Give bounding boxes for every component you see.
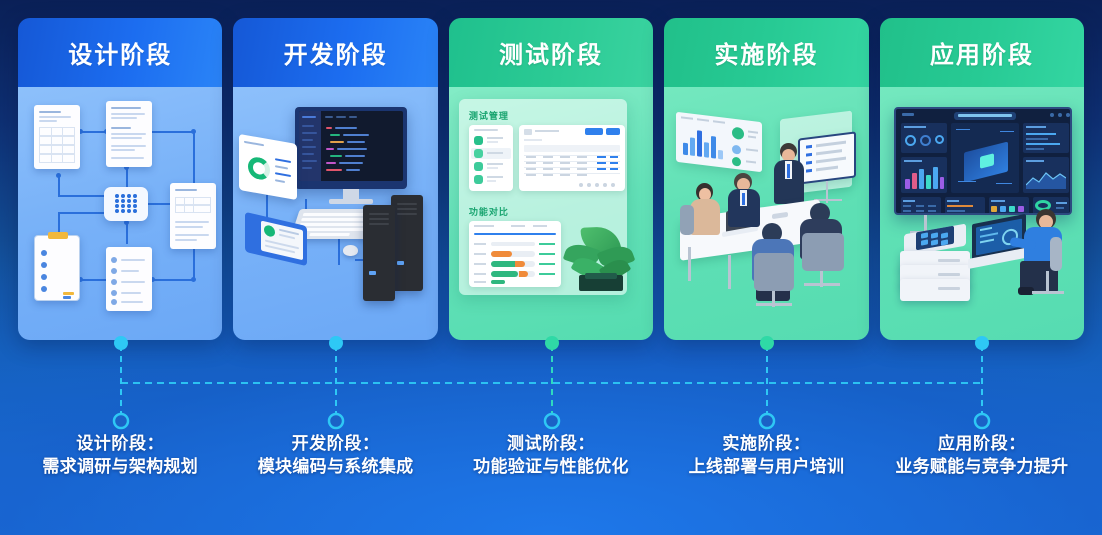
- stage-title-design: 设计阶段: [68, 35, 172, 70]
- stage-card-apply[interactable]: 应用阶段: [880, 18, 1084, 340]
- stage-card-header-test: 测试阶段: [449, 18, 653, 87]
- caption-design-desc: 需求调研与架构规划: [18, 455, 222, 478]
- caption-test-desc: 功能验证与性能优化: [449, 455, 653, 478]
- server-tower-back: [391, 195, 423, 291]
- server-tower-front: [363, 205, 395, 301]
- panel-heading-test-mgmt: 测试管理: [469, 109, 509, 122]
- illustration-developer-workstation: [233, 87, 437, 340]
- stage-captions-row: 设计阶段： 需求调研与架构规划 开发阶段： 模块编码与系统集成 测试阶段： 功能…: [18, 432, 1084, 479]
- stage-card-body-apply: [880, 87, 1084, 340]
- caption-design-title: 设计阶段：: [18, 432, 222, 455]
- monitor: [295, 107, 407, 189]
- stage-card-header-design: 设计阶段: [18, 18, 222, 87]
- stage-card-develop[interactable]: 开发阶段: [233, 18, 437, 340]
- stage-card-header-implement: 实施阶段: [664, 18, 868, 87]
- test-table-card: [519, 125, 625, 191]
- caption-test-title: 测试阶段：: [449, 432, 653, 455]
- wall-chart-board: [676, 112, 762, 173]
- stage-card-design[interactable]: 设计阶段: [18, 18, 222, 340]
- illustration-control-room-dashboard: [880, 87, 1084, 340]
- caption-apply-desc: 业务赋能与竞争力提升: [880, 455, 1084, 478]
- caption-implement-desc: 上线部署与用户培训: [664, 455, 868, 478]
- document-clipboard: [34, 235, 80, 301]
- document-spec: [106, 101, 152, 167]
- stage-card-body-develop: [233, 87, 437, 340]
- caption-apply: 应用阶段： 业务赋能与竞争力提升: [880, 432, 1084, 479]
- stage-card-body-test: 测试管理: [449, 87, 653, 340]
- caption-develop-title: 开发阶段：: [233, 432, 437, 455]
- stage-title-implement: 实施阶段: [714, 35, 818, 70]
- caption-apply-title: 应用阶段：: [880, 432, 1084, 455]
- caption-develop: 开发阶段： 模块编码与系统集成: [233, 432, 437, 479]
- stage-title-test: 测试阶段: [499, 35, 603, 70]
- stage-cards-row: 设计阶段: [18, 18, 1084, 340]
- stage-card-header-apply: 应用阶段: [880, 18, 1084, 87]
- stage-title-develop: 开发阶段: [284, 35, 388, 70]
- test-list-card: [469, 125, 513, 191]
- stage-card-header-develop: 开发阶段: [233, 18, 437, 87]
- document-table: [34, 105, 80, 169]
- stage-title-apply: 应用阶段: [930, 35, 1034, 70]
- illustration-team-meeting: [664, 87, 868, 340]
- stage-card-body-implement: [664, 87, 868, 340]
- caption-develop-desc: 模块编码与系统集成: [233, 455, 437, 478]
- stage-card-body-design: [18, 87, 222, 340]
- caption-implement-title: 实施阶段：: [664, 432, 868, 455]
- illustration-testing-dashboard: 测试管理: [449, 87, 653, 340]
- document-report: [170, 183, 216, 249]
- caption-test: 测试阶段： 功能验证与性能优化: [449, 432, 653, 479]
- video-wall-screen: [894, 107, 1072, 215]
- caption-implement: 实施阶段： 上线部署与用户培训: [664, 432, 868, 479]
- infographic-root: 设计阶段: [0, 0, 1102, 535]
- illustration-flowchart-documents: [18, 87, 222, 340]
- mouse: [343, 245, 358, 256]
- stats-panel: [239, 134, 297, 200]
- stage-card-implement[interactable]: 实施阶段: [664, 18, 868, 340]
- caption-design: 设计阶段： 需求调研与架构规划: [18, 432, 222, 479]
- performance-progress-card: [469, 221, 561, 287]
- document-checklist: [106, 247, 152, 311]
- stage-card-test[interactable]: 测试阶段 测试管理: [449, 18, 653, 340]
- hub-node: [104, 187, 148, 221]
- panel-heading-feature-compare: 功能对比: [469, 205, 509, 218]
- presentation-screen: [798, 131, 856, 184]
